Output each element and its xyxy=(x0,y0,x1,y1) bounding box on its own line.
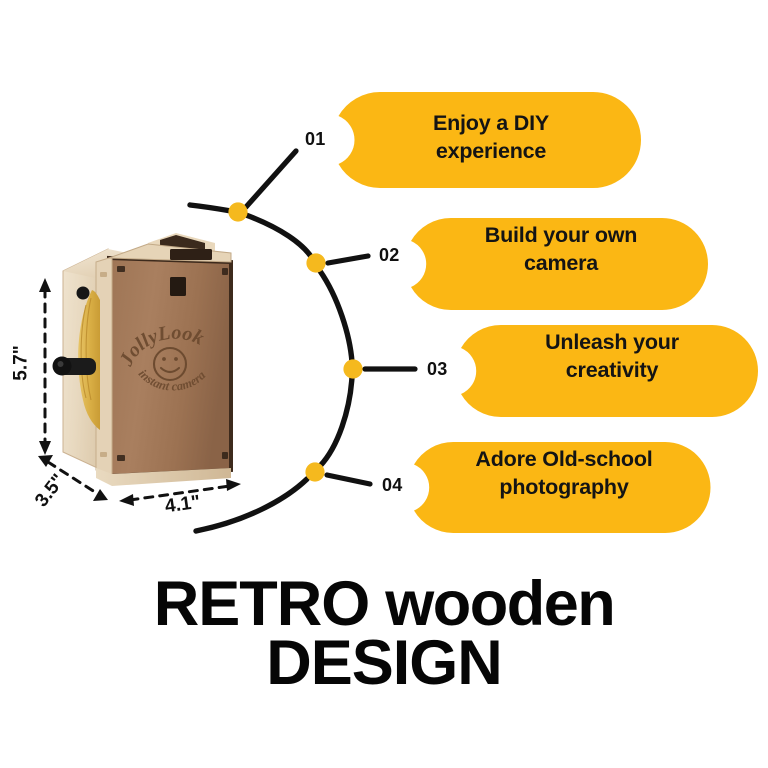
feature-pill-1[interactable] xyxy=(339,92,642,188)
arc-segment-1-2 xyxy=(246,215,312,258)
step-number-04: 04 xyxy=(382,475,403,496)
product-camera-image: JollyLook instant camera xyxy=(53,233,232,486)
arc-segment-top xyxy=(190,205,231,211)
step-number-03: 03 xyxy=(427,359,448,380)
dimension-label-height: 5.7" xyxy=(11,345,33,380)
arc-segment-bottom xyxy=(196,479,307,531)
dimension-arrow-height xyxy=(39,278,51,455)
headline-line-2: DESIGN xyxy=(0,634,768,693)
feature-pill-3[interactable] xyxy=(461,325,758,417)
node-dot-03[interactable] xyxy=(343,359,362,378)
node-dot-02[interactable] xyxy=(306,253,325,272)
infographic-canvas: JollyLook instant camera xyxy=(0,0,768,768)
camera-lens-knob xyxy=(53,357,97,376)
stub-01 xyxy=(246,151,296,207)
arc-segment-2-3 xyxy=(320,271,352,362)
page-title: RETRO wooden DESIGN xyxy=(0,575,768,692)
headline-line-1: RETRO wooden xyxy=(0,575,768,634)
connector-stubs xyxy=(246,151,415,484)
stub-04 xyxy=(327,475,370,484)
step-number-01: 01 xyxy=(305,129,326,150)
step-number-02: 02 xyxy=(379,245,400,266)
feature-pills xyxy=(339,92,759,533)
arc-segment-3-4 xyxy=(320,377,352,466)
node-dot-01[interactable] xyxy=(228,202,247,221)
feature-pill-4[interactable] xyxy=(414,442,711,533)
node-dot-04[interactable] xyxy=(305,462,324,481)
stub-02 xyxy=(328,256,368,263)
feature-pill-2[interactable] xyxy=(411,218,708,310)
